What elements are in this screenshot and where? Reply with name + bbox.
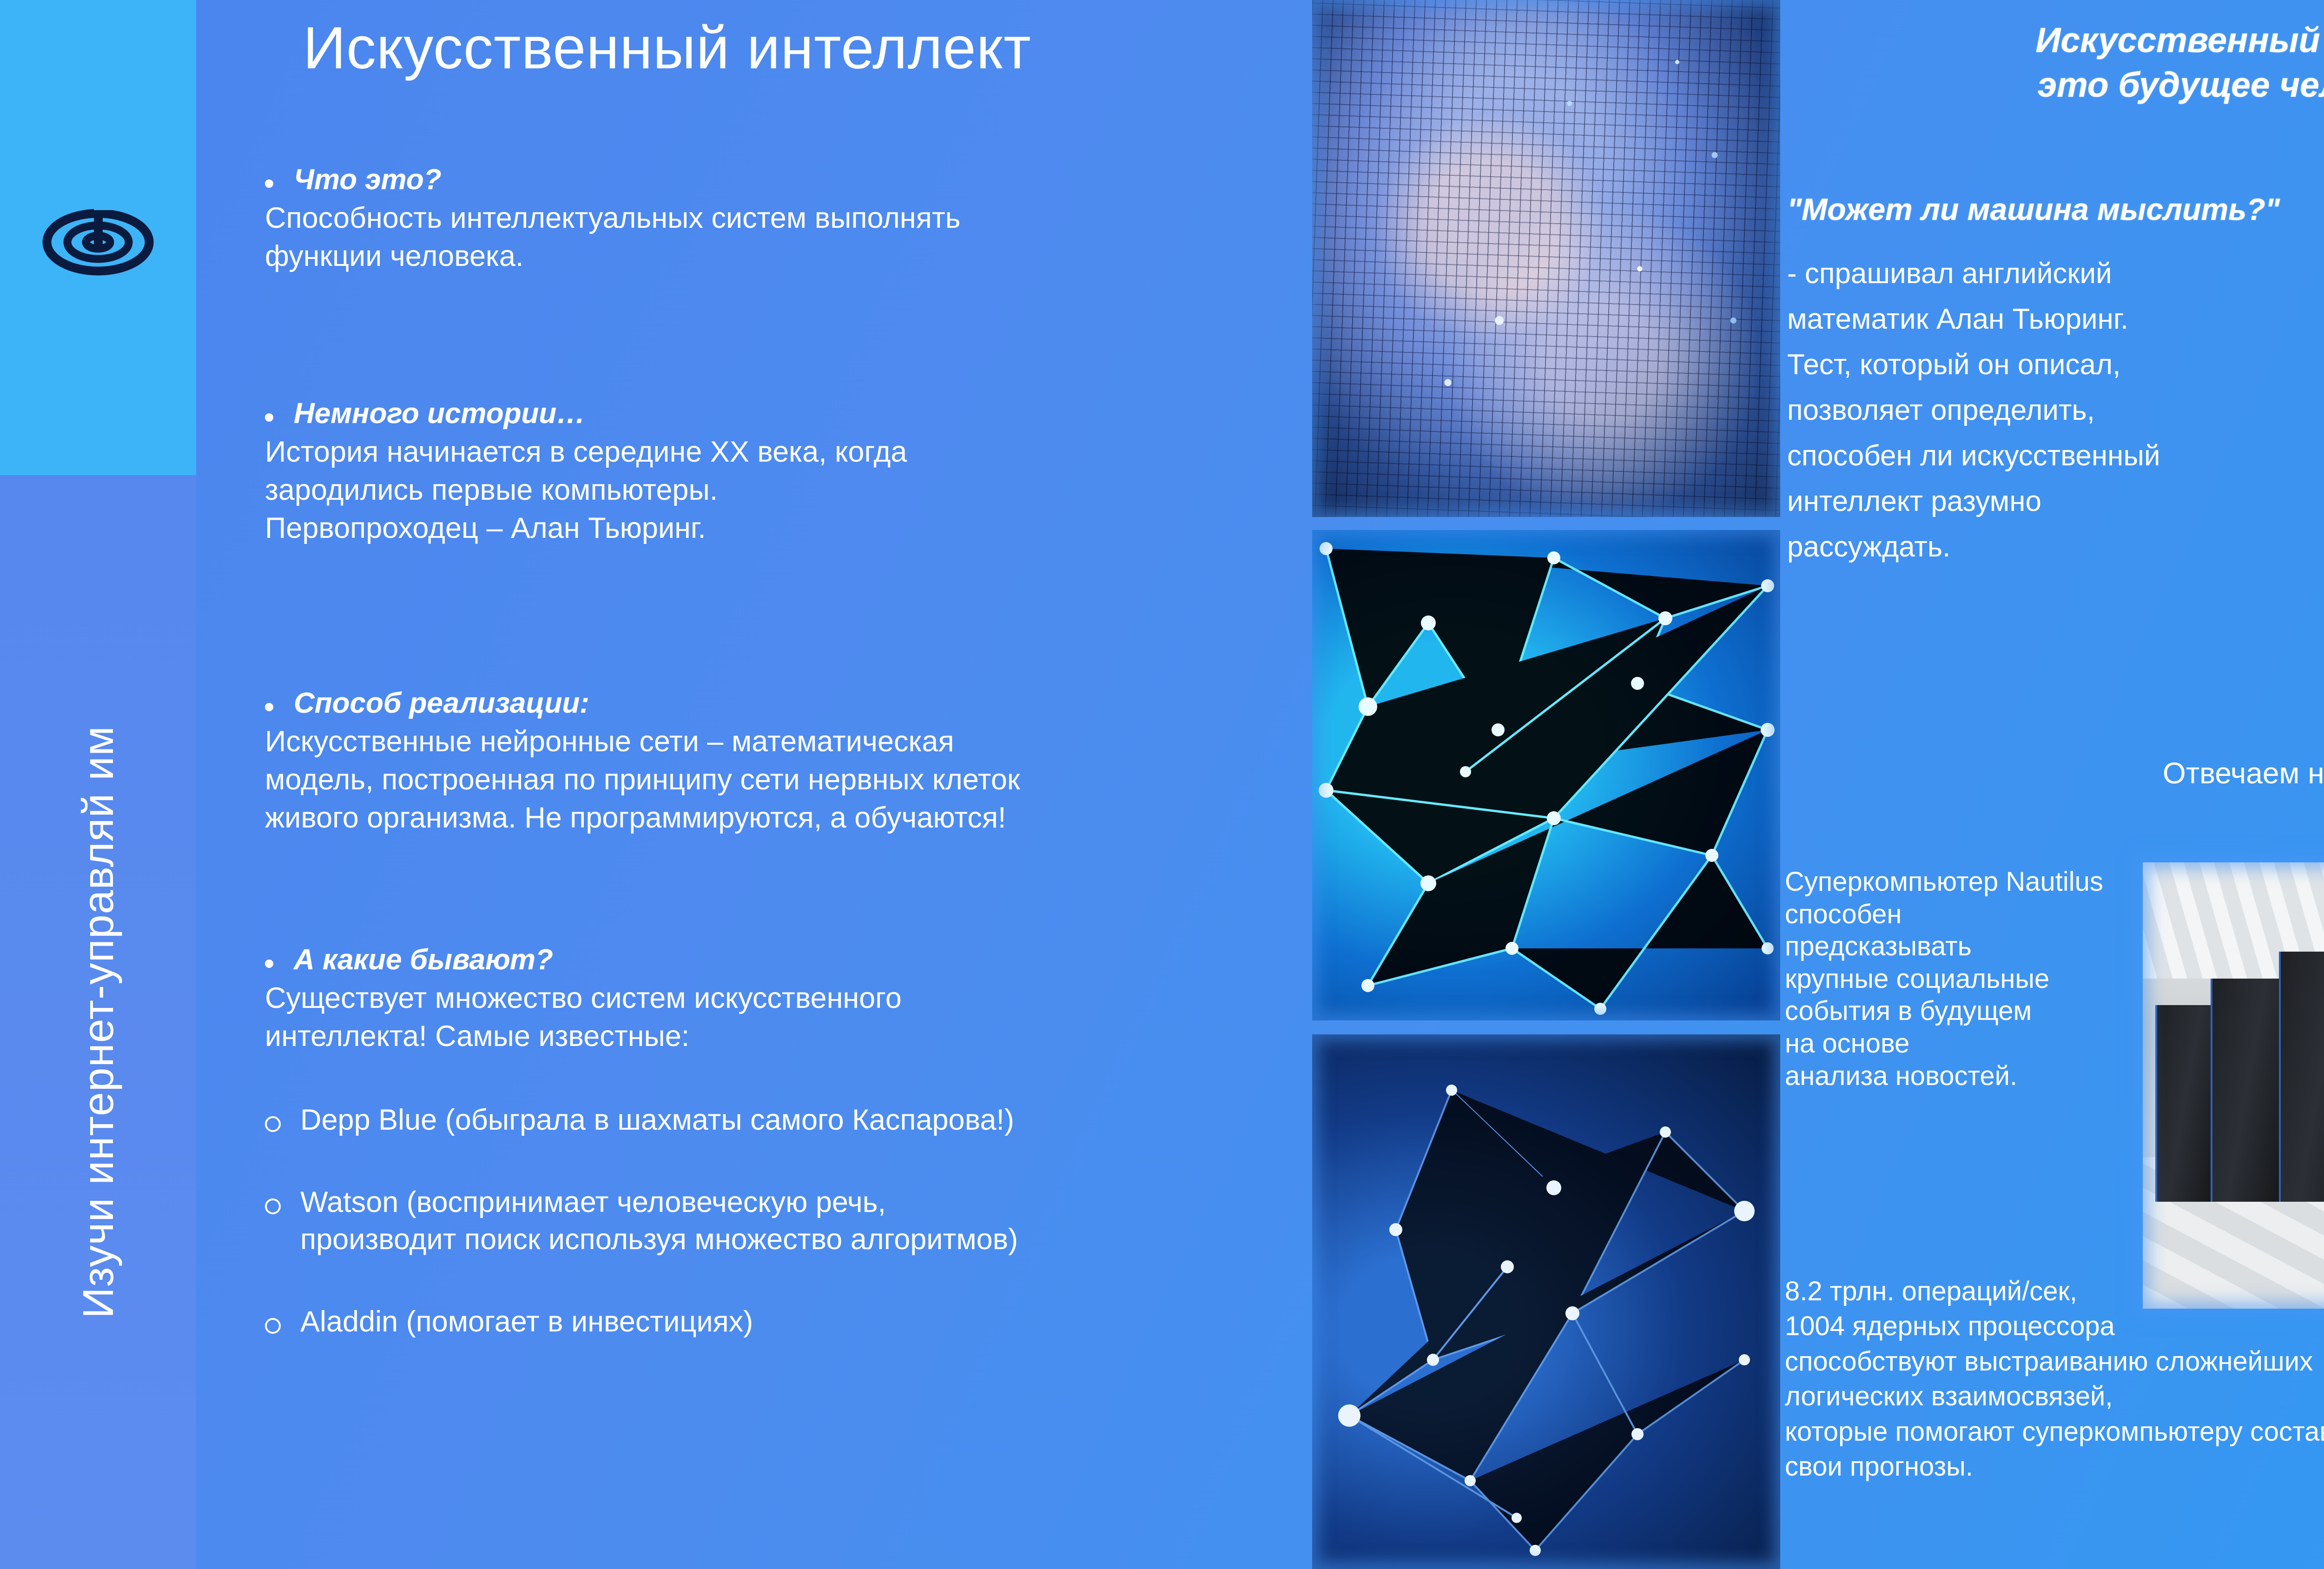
ai-face-wireframe-photo	[1312, 0, 1780, 517]
neural-network-bright-photo	[1312, 530, 1780, 1020]
bullet-body: Искусственные нейронные сети – математич…	[265, 723, 1312, 837]
turing-answer-line: Отвечаем на вопрос А. Тьюринга – МОЖЕТ!	[1780, 756, 2324, 790]
bullet-dot-icon	[265, 703, 273, 711]
bullet-heading-label: А какие бывают?	[294, 944, 553, 976]
center-image-strip	[1312, 0, 1780, 1569]
bullet-dot-icon	[265, 413, 273, 422]
ripple-target-logo-icon	[38, 196, 158, 279]
presentation-slide: Изучи интернет-управляй им Искусственный…	[0, 0, 2324, 1569]
bullet-dot-icon	[265, 960, 273, 968]
logo-panel	[0, 0, 196, 475]
bullet-heading: Что это?	[265, 164, 1312, 196]
turing-quote-body: - спрашивал английский математик Алан Ть…	[1787, 251, 2324, 570]
right-panel-title: Искусственный интеллект это будущее чело…	[1780, 18, 2324, 107]
main-content-column: Искусственный интеллект Что это? Способн…	[196, 0, 1312, 1569]
left-sidebar: Изучи интернет-управляй им	[0, 475, 196, 1569]
neural-network-dark-photo	[1312, 1034, 1780, 1569]
bullet-heading-label: Что это?	[294, 164, 442, 196]
list-item-label: Depp Blue (обыграла в шахматы самого Кас…	[300, 1101, 1014, 1139]
list-item: Aladdin (помогает в инвестициях)	[265, 1303, 1312, 1341]
bullet-heading-label: Способ реализации:	[294, 687, 589, 719]
list-item-label: Aladdin (помогает в инвестициях)	[300, 1303, 753, 1341]
nautilus-supercomputer-photo	[2143, 862, 2324, 1309]
hollow-bullet-icon	[265, 1318, 281, 1334]
content-block-kinds: А какие бывают? Существует множество сис…	[265, 944, 1312, 1341]
hollow-bullet-icon	[265, 1116, 281, 1132]
bullet-body: Способность интеллектуальных систем выпо…	[265, 199, 1312, 276]
right-content-column: Искусственный интеллект это будущее чело…	[1780, 0, 2324, 1569]
network-lines	[1312, 530, 1780, 1020]
bullet-heading-label: Немного истории…	[294, 397, 585, 430]
hollow-bullet-icon	[265, 1198, 281, 1214]
list-item-label: Watson (воспринимает человеческую речь, …	[300, 1184, 1018, 1258]
turing-quote: "Может ли машина мыслить?"	[1787, 192, 2280, 227]
server-rack	[2211, 979, 2280, 1202]
page-title: Искусственный интеллект	[303, 14, 1031, 82]
server-rack	[2279, 952, 2324, 1202]
bullet-heading: А какие бывают?	[265, 944, 1312, 976]
bullet-heading: Немного истории…	[265, 397, 1312, 430]
sidebar-vertical-label: Изучи интернет-управляй им	[0, 475, 196, 1569]
list-item: Depp Blue (обыграла в шахматы самого Кас…	[265, 1101, 1312, 1139]
content-block-implementation: Способ реализации: Искусственные нейронн…	[265, 687, 1312, 837]
bullet-dot-icon	[265, 179, 273, 188]
server-rack	[2155, 1005, 2213, 1201]
content-block-what-is-it: Что это? Способность интеллектуальных си…	[265, 164, 1312, 276]
list-item: Watson (воспринимает человеческую речь, …	[265, 1184, 1312, 1258]
bullet-body: История начинается в середине XX века, к…	[265, 433, 1312, 548]
content-block-history: Немного истории… История начинается в се…	[265, 397, 1312, 548]
bullet-body: Существует множество систем искусственно…	[265, 980, 1312, 1056]
particle-overlay	[1312, 0, 1780, 517]
network-lines	[1312, 1034, 1780, 1569]
bullet-heading: Способ реализации:	[265, 687, 1312, 719]
